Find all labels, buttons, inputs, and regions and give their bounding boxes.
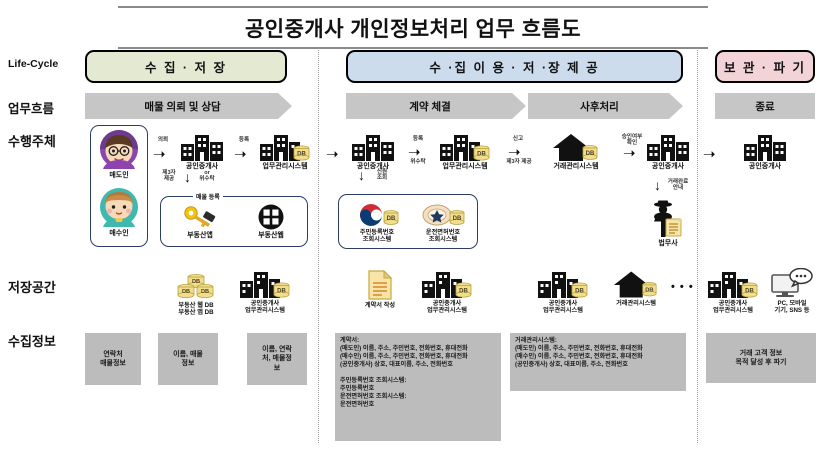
storage-system-col1[interactable]: DB 공인중개사 업무관리시스템 — [232, 270, 298, 314]
system-col1-label: 업무관리시스템 — [262, 163, 307, 171]
lookup-system-resident-label: 주민등록번호 조회시스템 — [360, 229, 394, 243]
arrow-label-third-party-col1: 제3자 제공 — [157, 170, 181, 183]
svg-text:DB: DB — [459, 289, 468, 295]
svg-text:DB: DB — [192, 279, 200, 285]
lookup-system-license[interactable]: DB 운전면허번호 조회시스템 — [410, 199, 476, 243]
workflow-step-2[interactable]: 계약 체결 — [346, 93, 526, 119]
workflow-step-3[interactable]: 사후처리 — [528, 93, 683, 119]
actor-legal-agent[interactable]: 법무사 — [641, 198, 695, 248]
lifecycle-pill-2[interactable]: 수 ·집 이 용 · 저 ·장 제 공 — [346, 50, 683, 83]
storage-system-col3[interactable]: DB 공인중개사 업무관리시스템 — [530, 270, 596, 314]
building-db-icon: DB — [240, 270, 290, 298]
arrow-right-register-icon: ➝ — [234, 147, 247, 162]
system-col1[interactable]: DB 업무관리시스템 — [252, 133, 318, 171]
app-realestate-app-label: 부동산앱 — [187, 232, 213, 240]
row-label-collected: 수집정보 — [8, 331, 56, 350]
arrow-right-col2-entry-icon: ➝ — [326, 147, 339, 162]
storage-more-dots: • • • — [671, 281, 694, 293]
collected-info-box-6: 거래 고객 정보 목적 달성 후 파기 — [706, 333, 816, 383]
title-rule-bottom — [118, 47, 708, 49]
app-realestate-app[interactable]: 부동산앱 — [169, 204, 231, 240]
collected-info-box-3: 이름, 연락 처, 매물정 보 — [247, 333, 307, 385]
actor-agent-col3-label: 공인중개사 — [652, 163, 684, 171]
buyer-avatar-icon — [97, 186, 141, 228]
workflow-step-4-label: 종료 — [755, 99, 774, 114]
lookup-system-license-label: 운전면허번호 조회시스템 — [426, 229, 460, 243]
workflow-step-1[interactable]: 매물 의뢰 및 상담 — [85, 93, 292, 119]
actor-agent-col2[interactable]: 공인중개사 — [345, 133, 401, 171]
building-icon — [744, 133, 786, 161]
arrow-right-request-icon: ➝ — [153, 147, 166, 162]
storage-trade-system-label: 거래관리시스템 — [616, 300, 656, 307]
page-title-block: 공인중개사 개인정보처리 업무 흐름도 — [118, 6, 708, 49]
actor-buyer[interactable]: 매수인 — [94, 186, 144, 238]
document-icon — [367, 270, 393, 300]
storage-system-col2[interactable]: DB 공인중개사 업무관리시스템 — [414, 270, 480, 314]
arrow-label-consign-col2: 위수탁 — [404, 159, 432, 165]
building-db-icon: DB — [422, 270, 472, 298]
workflow-step-2-label: 계약 체결 — [409, 99, 451, 114]
svg-text:DB: DB — [745, 289, 754, 295]
svg-text:DB: DB — [477, 152, 486, 158]
system-col2[interactable]: DB 업무관리시스템 — [432, 133, 498, 171]
arrow-down-col3-icon: ↓ — [654, 178, 661, 192]
building-db-icon: DB — [538, 270, 588, 298]
svg-text:DB: DB — [277, 289, 286, 295]
row-label-actor: 수행주체 — [8, 131, 56, 150]
workflow-step-1-label: 매물 의뢰 및 상담 — [144, 99, 220, 114]
collected-info-box-1: 연락처 매물정보 — [85, 333, 141, 385]
svg-text:DB: DB — [297, 152, 306, 158]
police-emblem-db-icon: DB — [420, 199, 466, 227]
row-label-work-flow: 업무흐름 — [8, 98, 54, 117]
arrow-down-col2-icon: ↓ — [358, 168, 365, 182]
storage-db-stack-label: 부동산 웹 DB 부동산 앱 DB — [178, 302, 213, 316]
flow-diagram-canvas: 공인중개사 개인정보처리 업무 흐름도 Life-Cycle 업무흐름 수행주체… — [0, 0, 825, 452]
divider-1 — [318, 48, 319, 443]
collected-info-box-5: 거래관리시스템: (매도인) 이름, 주소, 주민번호, 전화번호, 휴대전화 … — [510, 333, 686, 391]
arrow-right-col4-entry-icon: ➝ — [703, 147, 716, 162]
row-label-storage: 저장공간 — [8, 277, 56, 296]
judicial-scrivener-icon — [648, 198, 688, 238]
lookup-system-resident[interactable]: DB 주민등록번호 조회시스템 — [344, 199, 410, 243]
arrow-label-report-col3: 신고 — [506, 136, 530, 142]
page-title: 공인중개사 개인정보처리 업무 흐름도 — [118, 8, 708, 47]
arrow-label-docs-col3: 거래완료 안내 — [663, 179, 693, 192]
building-icon — [647, 133, 689, 161]
storage-contract-doc-label: 계약서 작성 — [365, 302, 395, 309]
building-icon — [352, 133, 394, 161]
collected-info-box-2: 이름, 매물 정보 — [158, 333, 218, 385]
building-db-icon: DB — [260, 133, 310, 161]
arrow-label-register-col2: 등록 — [406, 136, 430, 142]
app-realestate-web[interactable]: 부동산웹 — [240, 204, 302, 240]
db-stack-icon: DB DB DB — [176, 272, 216, 300]
system-col2-label: 업무관리시스템 — [442, 163, 487, 171]
storage-system-col4-label: 공인중개사 업무관리시스템 — [713, 300, 753, 314]
arrow-label-request: 의뢰 — [152, 137, 174, 143]
actor-agent-col4-label: 공인중개사 — [749, 163, 781, 171]
arrow-label-verify-col2: 신원 조회 — [369, 169, 395, 182]
arrow-right-approval-icon: ➝ — [623, 146, 636, 161]
arrow-right-col2-icon: ➝ — [408, 145, 421, 160]
app-realestate-web-label: 부동산웹 — [258, 232, 284, 240]
building-db-icon: DB — [708, 270, 758, 298]
actor-buyer-label: 매수인 — [109, 230, 128, 238]
storage-devices[interactable]: PC, 모바일 기기, SNS 등 — [763, 268, 821, 314]
lifecycle-pill-3[interactable]: 보 관 · 파 기 — [715, 50, 815, 83]
storage-system-col2-label: 공인중개사 업무관리시스템 — [427, 300, 467, 314]
monitor-chat-icon — [771, 268, 813, 298]
svg-text:DB: DB — [575, 289, 584, 295]
storage-system-col4[interactable]: DB 공인중개사 업무관리시스템 — [700, 270, 766, 314]
actor-seller[interactable]: 매도인 — [94, 128, 144, 180]
house-db-icon: DB — [612, 270, 660, 298]
actor-seller-label: 매도인 — [109, 172, 128, 180]
row-label-life-cycle: Life-Cycle — [8, 58, 58, 70]
korea-flag-db-icon: DB — [354, 199, 400, 227]
arrow-right-col3-icon: ➝ — [508, 145, 521, 160]
key-phone-icon — [183, 204, 217, 230]
workflow-step-4[interactable]: 종료 — [715, 93, 815, 119]
listing-register-group-title: 매물 등록 — [193, 192, 223, 201]
divider-2 — [697, 48, 698, 443]
trade-management-system[interactable]: DB 거래관리시스템 — [540, 133, 612, 171]
seller-avatar-icon — [97, 128, 141, 170]
collected-info-box-4: 계약서: (매도인) 이름, 주소, 주민번호, 전화번호, 휴대전화 (매수인… — [335, 333, 501, 441]
storage-system-col3-label: 공인중개사 업무관리시스템 — [543, 300, 583, 314]
building-db-icon: DB — [440, 133, 490, 161]
window-grid-icon — [258, 204, 284, 230]
arrow-down-col1-icon: ↓ — [184, 170, 191, 184]
storage-contract-doc[interactable]: 계약서 작성 — [350, 270, 410, 309]
actor-agent-col3[interactable]: 공인중개사 — [640, 133, 696, 171]
svg-text:DB: DB — [586, 151, 595, 157]
storage-trade-system[interactable]: DB 거래관리시스템 — [602, 270, 670, 307]
svg-text:DB: DB — [453, 216, 462, 222]
house-db-icon: DB — [551, 133, 601, 161]
arrow-label-third-party-col3: 제3자 제공 — [498, 159, 540, 165]
storage-devices-label: PC, 모바일 기기, SNS 등 — [775, 300, 810, 314]
storage-system-col1-label: 공인중개사 업무관리시스템 — [245, 300, 285, 314]
actor-agent-col1[interactable]: 공인중개사 — [174, 133, 230, 171]
actor-legal-agent-label: 법무사 — [658, 240, 677, 248]
svg-text:DB: DB — [182, 289, 190, 295]
svg-text:DB: DB — [387, 216, 396, 222]
trade-management-system-label: 거래관리시스템 — [553, 163, 598, 171]
workflow-step-3-label: 사후처리 — [580, 99, 619, 114]
svg-text:DB: DB — [201, 289, 209, 295]
storage-db-stack[interactable]: DB DB DB 부동산 웹 DB 부동산 앱 DB — [166, 272, 226, 316]
arrow-label-or-consign-col1: or 위수탁 — [194, 170, 220, 183]
actor-agent-col4[interactable]: 공인중개사 — [730, 133, 800, 171]
lifecycle-pill-1[interactable]: 수 집 · 저 장 — [85, 50, 287, 83]
svg-text:DB: DB — [645, 288, 653, 294]
building-icon — [181, 133, 223, 161]
